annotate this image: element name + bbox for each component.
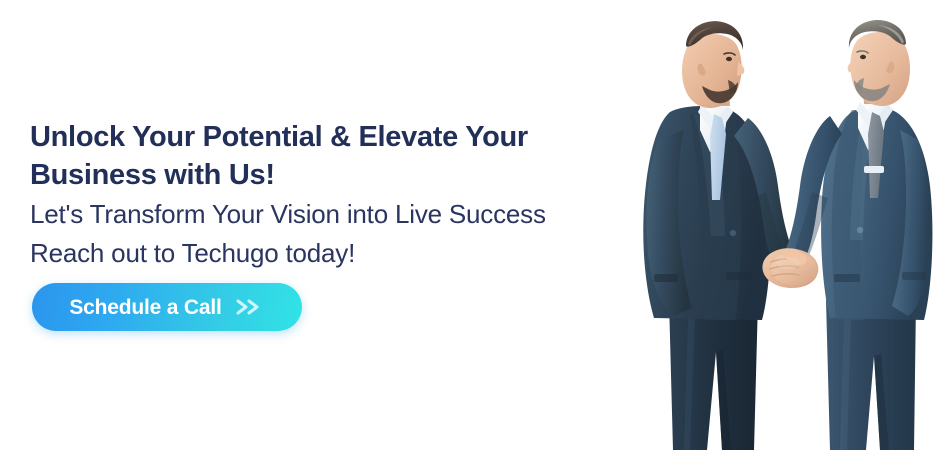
copy-block: Unlock Your Potential & Elevate Your Bus… <box>30 118 640 272</box>
cta-button-label: Schedule a Call <box>69 297 221 318</box>
handshake-photo <box>630 0 950 450</box>
subheadline-line-1: Let's Transform Your Vision into Live Su… <box>30 194 640 233</box>
subheadline-line-2: Reach out to Techugo today! <box>30 233 640 272</box>
handshake-illustration <box>630 0 950 450</box>
double-chevron-right-icon <box>235 297 265 317</box>
schedule-a-call-button[interactable]: Schedule a Call <box>32 283 302 331</box>
cta-banner: tech go Unlock Your Potential & Elevate … <box>0 0 950 450</box>
headline: Unlock Your Potential & Elevate Your Bus… <box>30 118 640 194</box>
